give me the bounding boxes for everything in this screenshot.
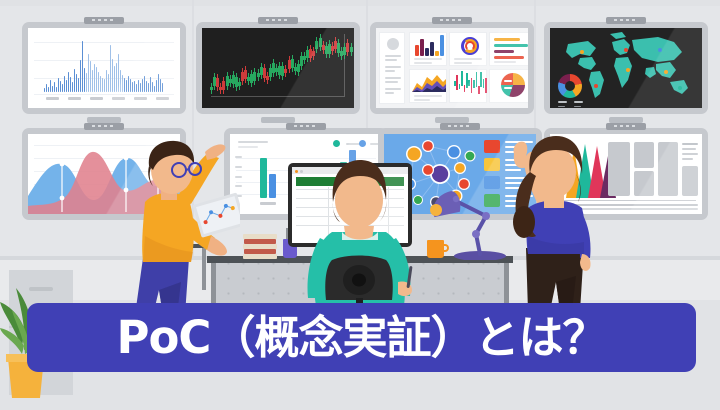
axis-tick	[134, 97, 147, 100]
screen-bar-histogram	[28, 28, 180, 108]
mini-candlestick	[466, 73, 468, 88]
axis-tick	[260, 202, 276, 205]
monitor-mount	[440, 123, 480, 130]
scene: PoC（概念実証）とは？	[0, 0, 720, 410]
monitor-mount	[606, 17, 646, 24]
dashboard-card-pie[interactable]	[489, 69, 528, 103]
grouped-bar	[269, 174, 276, 198]
screen-candlestick	[202, 28, 354, 108]
monitor-mount	[286, 123, 326, 130]
mini-candlestick	[464, 85, 466, 91]
person-viewer-right	[494, 136, 614, 311]
grouped-bar	[260, 158, 267, 198]
dashboard-card-candles[interactable]	[449, 69, 487, 103]
mini-candlestick	[476, 72, 478, 87]
mini-candlestick	[456, 75, 458, 90]
mini-candlestick	[454, 81, 456, 86]
report-block-2	[634, 142, 654, 168]
mini-candlestick	[459, 84, 461, 90]
mini-candlestick	[480, 72, 482, 86]
monitor-mount	[606, 123, 646, 130]
mini-candlestick	[483, 79, 485, 87]
dashboard-card-radial[interactable]	[449, 32, 487, 66]
monitor-mount	[432, 17, 472, 24]
monitor-mount	[84, 17, 124, 24]
mini-candlestick	[485, 78, 487, 92]
candlestick	[350, 43, 353, 56]
report-block-5	[682, 166, 698, 196]
axis-tick	[112, 97, 125, 100]
axis-tick	[46, 97, 59, 100]
screen-world-map	[550, 28, 702, 108]
banner: PoC（概念実証）とは？	[27, 303, 696, 372]
wall-trim	[0, 0, 720, 6]
dashboard-card-area[interactable]	[409, 69, 447, 103]
report-block-4	[658, 142, 678, 196]
page-title: PoC（概念実証）とは？	[117, 315, 607, 360]
person-analyst-center	[292, 158, 428, 318]
histogram-bar	[162, 83, 163, 92]
book-stack	[243, 234, 277, 258]
monitor-mount	[258, 17, 298, 24]
legend-dot-blue	[359, 140, 366, 147]
dashboard-sidebar	[379, 32, 405, 104]
axis-tick	[90, 97, 103, 100]
mini-candlestick	[468, 80, 470, 87]
monitor-world-map[interactable]	[544, 22, 708, 114]
dashboard-card-bars[interactable]	[409, 32, 447, 66]
mini-candlestick	[478, 86, 480, 94]
axis-tick	[156, 97, 169, 100]
mini-candlestick	[461, 71, 463, 86]
person-presenter-left	[115, 140, 240, 315]
area-sparkline	[410, 70, 448, 94]
monitor-dashboard[interactable]	[370, 22, 534, 114]
screen-dashboard	[376, 28, 528, 108]
mini-candlestick	[471, 78, 473, 93]
monitor-bar-histogram[interactable]	[22, 22, 186, 114]
legend-dot-green	[333, 140, 340, 147]
axis-tick	[68, 97, 81, 100]
monitor-candlestick[interactable]	[196, 22, 360, 114]
dashboard-card-hbars[interactable]	[489, 32, 528, 66]
report-block-3	[634, 171, 654, 196]
monitor-mount	[84, 123, 124, 130]
mini-candlestick	[473, 80, 475, 87]
